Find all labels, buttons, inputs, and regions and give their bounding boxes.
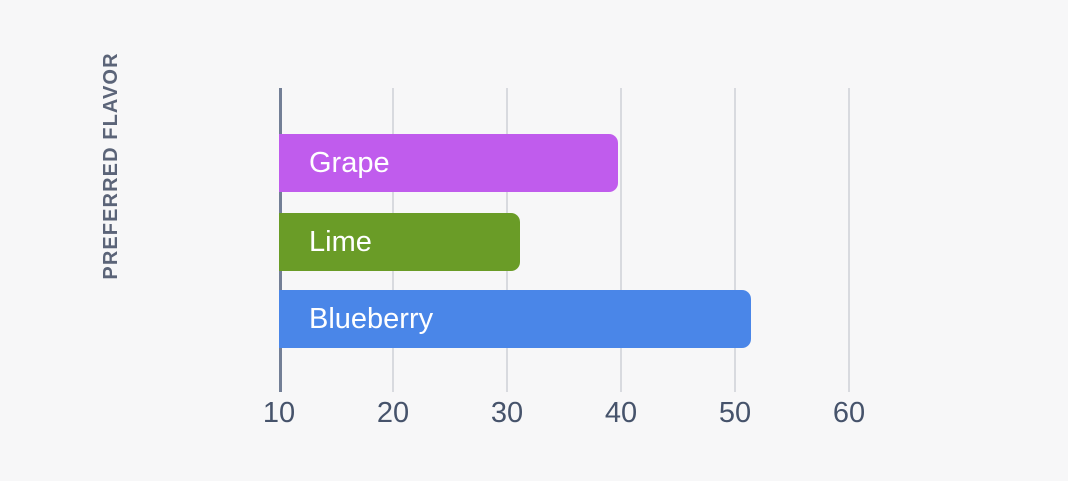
bar[interactable]: Grape <box>279 134 618 192</box>
bar-chart: PREFERRED FLAVOR GrapeLimeBlueberry 1020… <box>0 0 1068 481</box>
x-tick-label: 30 <box>491 396 523 431</box>
x-tick-label: 50 <box>719 396 751 431</box>
bar-label: Blueberry <box>309 305 433 334</box>
bar-label: Grape <box>309 149 390 178</box>
x-tick-label: 10 <box>263 396 295 431</box>
bars-layer: GrapeLimeBlueberry <box>279 88 849 392</box>
bar-row: Blueberry <box>279 290 849 348</box>
bar-row: Lime <box>279 213 849 271</box>
plot-area: GrapeLimeBlueberry <box>279 88 849 392</box>
bar-label: Lime <box>309 228 372 257</box>
x-tick-label: 40 <box>605 396 637 431</box>
x-tick-label: 60 <box>833 396 865 431</box>
bar-row: Grape <box>279 134 849 192</box>
y-axis-title: PREFERRED FLAVOR <box>94 6 128 326</box>
x-tick-label: 20 <box>377 396 409 431</box>
bar[interactable]: Blueberry <box>279 290 751 348</box>
bar[interactable]: Lime <box>279 213 520 271</box>
x-axis-tick-labels: 102030405060 <box>279 396 849 436</box>
